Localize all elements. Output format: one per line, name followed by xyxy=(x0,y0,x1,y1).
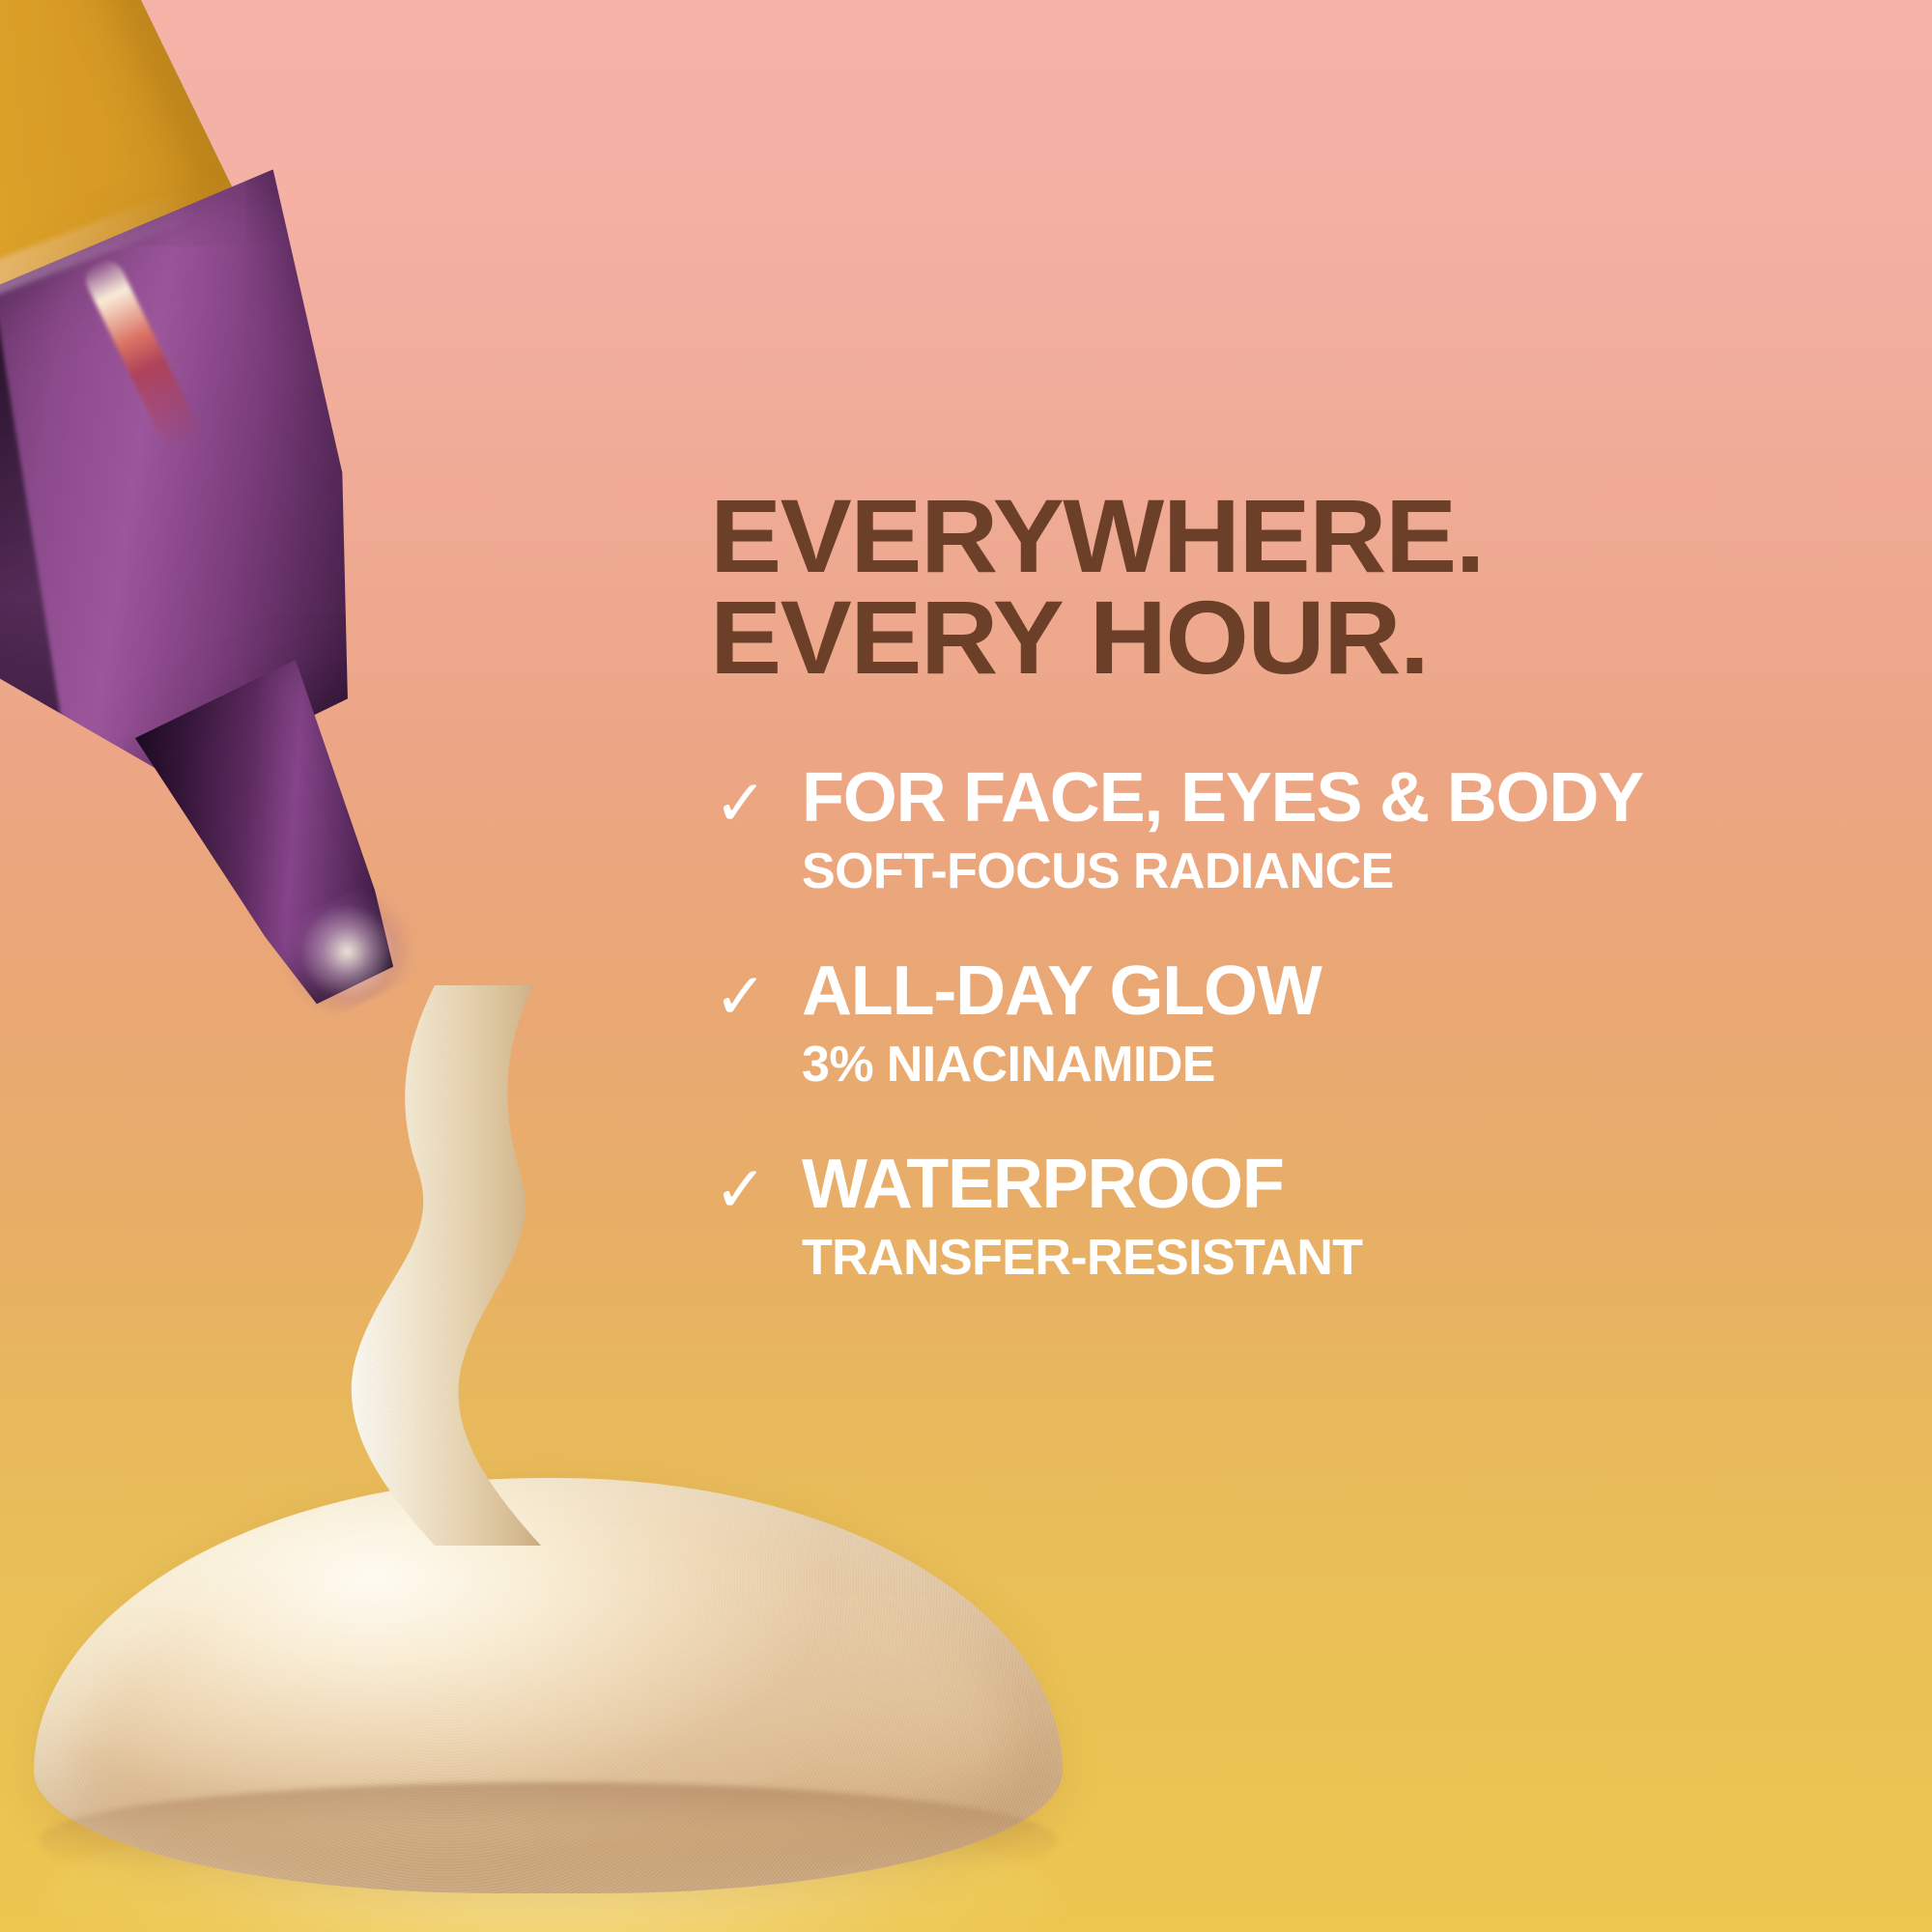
feature-title: WATERPROOF xyxy=(802,1150,1869,1219)
feature-title: ALL-DAY GLOW xyxy=(802,956,1869,1026)
list-item: ✓ ALL-DAY GLOW 3% NIACINAMIDE xyxy=(710,956,1869,1090)
feature-subtitle: TRANSFER-RESISTANT xyxy=(802,1233,1869,1283)
cream-pour-stream xyxy=(290,985,599,1546)
bottle-specular-highlight xyxy=(79,254,203,453)
product-bottle xyxy=(0,0,821,1208)
feature-list: ✓ FOR FACE, EYES & BODY SOFT-FOCUS RADIA… xyxy=(710,763,1869,1283)
feature-subtitle: SOFT-FOCUS RADIANCE xyxy=(802,846,1869,896)
bottle-label-lines xyxy=(18,762,286,999)
list-item: ✓ FOR FACE, EYES & BODY SOFT-FOCUS RADIA… xyxy=(710,763,1869,896)
list-item: ✓ WATERPROOF TRANSFER-RESISTANT xyxy=(710,1150,1869,1283)
bottle-neck xyxy=(120,652,450,1032)
check-icon: ✓ xyxy=(714,1157,772,1221)
bottle-body xyxy=(0,140,496,885)
check-icon: ✓ xyxy=(714,771,772,835)
bottle-shoulder-highlight xyxy=(0,187,197,381)
marketing-copy: EVERYWHERE. EVERY HOUR. ✓ FOR FACE, EYES… xyxy=(710,0,1869,1932)
bottle-tip-sparkle xyxy=(263,874,431,1029)
bottle-cap xyxy=(0,0,236,414)
page-title: EVERYWHERE. EVERY HOUR. xyxy=(710,486,1484,689)
creative-canvas: EVERYWHERE. EVERY HOUR. ✓ FOR FACE, EYES… xyxy=(0,0,1932,1932)
feature-subtitle: 3% NIACINAMIDE xyxy=(802,1039,1869,1090)
check-icon: ✓ xyxy=(714,964,772,1028)
feature-title: FOR FACE, EYES & BODY xyxy=(802,763,1869,833)
